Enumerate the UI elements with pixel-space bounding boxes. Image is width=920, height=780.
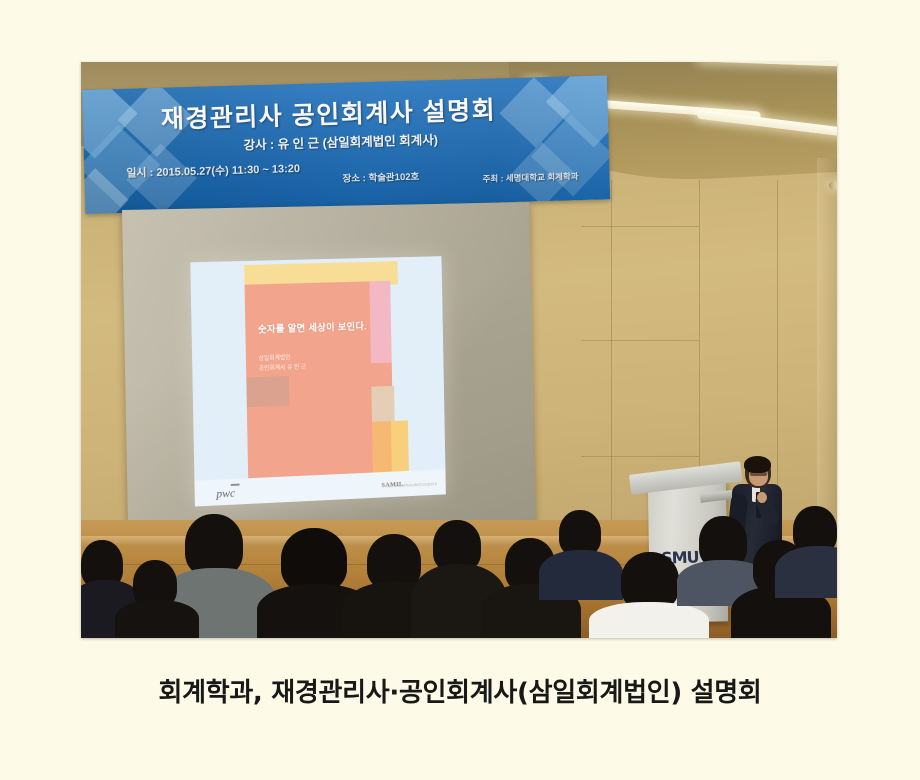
- slide-subline-1: 삼일회계법인: [258, 352, 290, 362]
- lecture-hall-presentation-photo: 재경관리사 공인회계사 설명회 강사 : 유 인 근 (삼일회계법인 회계사) …: [81, 62, 837, 638]
- event-banner: 재경관리사 공인회계사 설명회 강사 : 유 인 근 (삼일회계법인 회계사) …: [82, 75, 610, 214]
- slide-subline-2: 공인회계사 유 인 근: [259, 362, 307, 373]
- speaker-hand: [757, 492, 767, 503]
- pwc-logo: pwc: [216, 486, 235, 502]
- speaker-glasses: [750, 472, 767, 476]
- audience: [81, 506, 837, 638]
- photo-frame: 재경관리사 공인회계사 설명회 강사 : 유 인 근 (삼일회계법인 회계사) …: [81, 62, 837, 638]
- speaker-hair: [744, 456, 771, 473]
- page-root: 재경관리사 공인회계사 설명회 강사 : 유 인 근 (삼일회계법인 회계사) …: [0, 0, 920, 780]
- banner-datetime: 일시 : 2015.05.27(수) 11:30 ~ 13:20: [126, 160, 300, 181]
- photo-caption: 회계학과, 재경관리사·공인회계사(삼일회계법인) 설명회: [0, 672, 920, 709]
- banner-place: 장소 : 학술관102호: [342, 169, 419, 185]
- presentation-slide: 숫자를 알면 세상이 보인다. 삼일회계법인 공인회계사 유 인 근 pwc S…: [190, 256, 446, 506]
